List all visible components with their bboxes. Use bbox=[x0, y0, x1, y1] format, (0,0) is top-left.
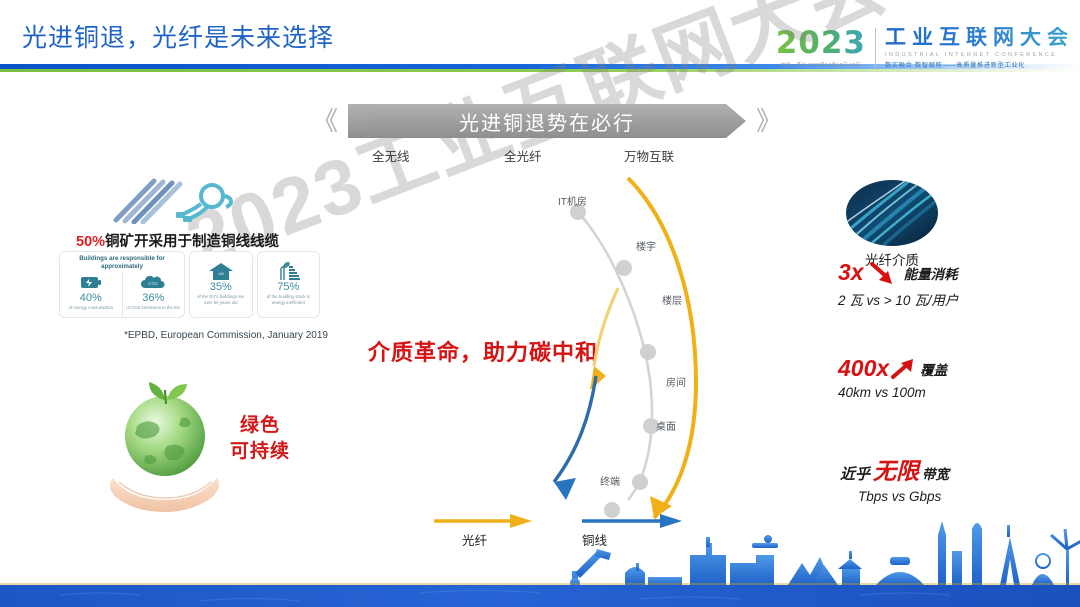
copper-material-icons bbox=[108, 176, 238, 224]
epbd-percent-age: 35% bbox=[210, 281, 232, 293]
epbd-card-efficiency: 75% of the building stock is energy inef… bbox=[257, 251, 321, 318]
sea-band bbox=[0, 585, 1080, 607]
page-title: 光进铜退，光纤是未来选择 bbox=[22, 18, 334, 54]
epbd-percent-efficiency: 75% bbox=[277, 281, 299, 293]
node-dot-floor bbox=[640, 344, 656, 360]
stat-bandwidth-prefix: 近乎 bbox=[840, 463, 870, 484]
node-label-it-room: IT机房 bbox=[558, 193, 587, 208]
chevron-left-icon: 《 bbox=[312, 108, 338, 134]
copper-mining-percent: 50% bbox=[76, 234, 105, 250]
epbd-card-energy: 40% of energy consumption bbox=[60, 272, 122, 317]
globe-icon bbox=[125, 396, 205, 476]
stat-bandwidth-detail: Tbps vs Gbps bbox=[858, 489, 949, 504]
chevron-right-icon: 》 bbox=[756, 108, 782, 134]
stat-energy: 3x 能量消耗 2 瓦 vs > 10 瓦/用户 bbox=[838, 259, 958, 309]
logo-year: 2023 bbox=[776, 28, 866, 59]
green-line-2: 可持续 bbox=[230, 439, 290, 465]
epbd-desc-efficiency: of the building stock is energy ineffici… bbox=[258, 294, 320, 305]
stat-coverage-value: 400x bbox=[838, 355, 889, 382]
trend-stage-labels: 全无线 全光纤 万物互联 bbox=[312, 146, 782, 164]
epbd-desc-energy: of energy consumption bbox=[66, 305, 116, 311]
legend-copper-arrow bbox=[660, 514, 682, 528]
node-label-desktop: 桌面 bbox=[656, 418, 676, 433]
legend-label-fiber: 光纤 bbox=[462, 530, 487, 549]
green-sustainable-label: 绿色 可持续 bbox=[230, 413, 290, 464]
epbd-card-age: >50 35% of the EU's buildings are over 5… bbox=[189, 251, 253, 318]
svg-text:CO2: CO2 bbox=[149, 281, 159, 286]
house-energy-icon bbox=[275, 263, 301, 280]
logo-year-subtitle: 中国 · 苏州 2023年10月18日-19日 bbox=[781, 62, 861, 68]
arrow-up-right-icon bbox=[890, 357, 916, 381]
cable-coil-icon bbox=[182, 185, 231, 219]
epbd-percent-energy: 40% bbox=[80, 292, 102, 304]
node-label-terminal: 终端 bbox=[600, 473, 620, 488]
slide-root: 光进铜退，光纤是未来选择 2023 中国 · 苏州 2023年10月18日-19… bbox=[0, 0, 1080, 607]
fiber-inner-arc bbox=[594, 288, 618, 366]
stat-bandwidth-emphasis: 无限 bbox=[873, 452, 919, 486]
copper-arrow-head bbox=[554, 478, 576, 500]
epbd-infographic: Buildings are responsible for approximat… bbox=[59, 251, 320, 318]
node-label-floor: 楼层 bbox=[662, 292, 682, 307]
stat-bandwidth-suffix: 带宽 bbox=[922, 463, 949, 483]
legend-fiber-arrow bbox=[510, 514, 532, 528]
stat-energy-detail: 2 瓦 vs > 10 瓦/用户 bbox=[838, 289, 958, 309]
node-dot-building bbox=[616, 260, 632, 276]
stat-energy-value: 3x bbox=[838, 259, 864, 286]
media-legend: 光纤 铜线 bbox=[430, 512, 730, 548]
stat-bandwidth: 近乎 无限 带宽 Tbps vs Gbps bbox=[840, 452, 949, 504]
stage-label-fiber: 全光纤 bbox=[504, 146, 542, 165]
stage-label-wireless: 全无线 bbox=[372, 146, 410, 165]
stat-coverage-detail: 40km vs 100m bbox=[838, 385, 947, 400]
copper-arc bbox=[554, 376, 596, 482]
sea-ripples bbox=[60, 591, 950, 602]
green-earth-illustration bbox=[95, 374, 245, 514]
stat-coverage-keyword: 覆盖 bbox=[920, 359, 947, 379]
logo-year-block: 2023 中国 · 苏州 2023年10月18日-19日 bbox=[776, 28, 875, 68]
epbd-card-co2: CO2 36% of CO2 emissions in the EU bbox=[122, 272, 185, 317]
hand-icon bbox=[110, 478, 219, 512]
fiber-inner-arrow-head bbox=[590, 366, 606, 390]
battery-icon bbox=[80, 274, 102, 291]
co2-cloud-icon: CO2 bbox=[140, 274, 166, 291]
epbd-desc-co2: of CO2 emissions in the EU bbox=[123, 305, 183, 311]
stage-label-iot: 万物互联 bbox=[624, 146, 674, 165]
copper-mining-stat: 50%铜矿开采用于制造铜线线缆 bbox=[76, 230, 279, 251]
logo-english-name: INDUSTRIAL INTERNET CONFERENCE bbox=[885, 52, 1074, 58]
epbd-percent-co2: 36% bbox=[142, 292, 164, 304]
logo-slogan: 数实融合 数智赋能——高质量推进新型工业化 bbox=[885, 60, 1074, 69]
stat-energy-keyword: 能量消耗 bbox=[904, 263, 958, 283]
fiber-arc bbox=[628, 178, 696, 518]
node-label-room: 房间 bbox=[666, 374, 686, 389]
legend-label-copper: 铜线 bbox=[582, 530, 607, 549]
network-hierarchy-diagram bbox=[520, 170, 770, 540]
epbd-headline: Buildings are responsible for approximat… bbox=[60, 255, 184, 272]
copper-rods-icon bbox=[116, 181, 180, 222]
fiber-strands-image bbox=[846, 180, 938, 246]
conference-logo: 2023 中国 · 苏州 2023年10月18日-19日 工业互联网大会 IND… bbox=[776, 24, 1074, 72]
epbd-source-note: *EPBD, European Commission, January 2019 bbox=[124, 330, 328, 341]
logo-name-block: 工业互联网大会 INDUSTRIAL INTERNET CONFERENCE 数… bbox=[876, 27, 1074, 68]
epbd-desc-age: of the EU's buildings are over 50 years … bbox=[190, 294, 252, 305]
node-dot-desktop bbox=[632, 474, 648, 490]
logo-chinese-name: 工业互联网大会 bbox=[885, 27, 1074, 49]
copper-mining-text: 铜矿开采用于制造铜线线缆 bbox=[105, 234, 279, 250]
trend-banner-headline: 光进铜退势在必行 bbox=[348, 104, 746, 138]
green-line-1: 绿色 bbox=[230, 413, 290, 439]
epbd-card-group-1: Buildings are responsible for approximat… bbox=[59, 251, 185, 318]
house-50-years-icon: >50 bbox=[208, 263, 234, 280]
hierarchy-chain bbox=[578, 212, 652, 500]
stat-coverage: 400x 覆盖 40km vs 100m bbox=[838, 355, 947, 400]
node-label-building: 楼宇 bbox=[636, 238, 656, 253]
svg-text:>50: >50 bbox=[218, 272, 224, 276]
trend-banner: 《 光进铜退势在必行 》 bbox=[312, 104, 782, 138]
arrow-down-right-icon bbox=[868, 260, 900, 286]
